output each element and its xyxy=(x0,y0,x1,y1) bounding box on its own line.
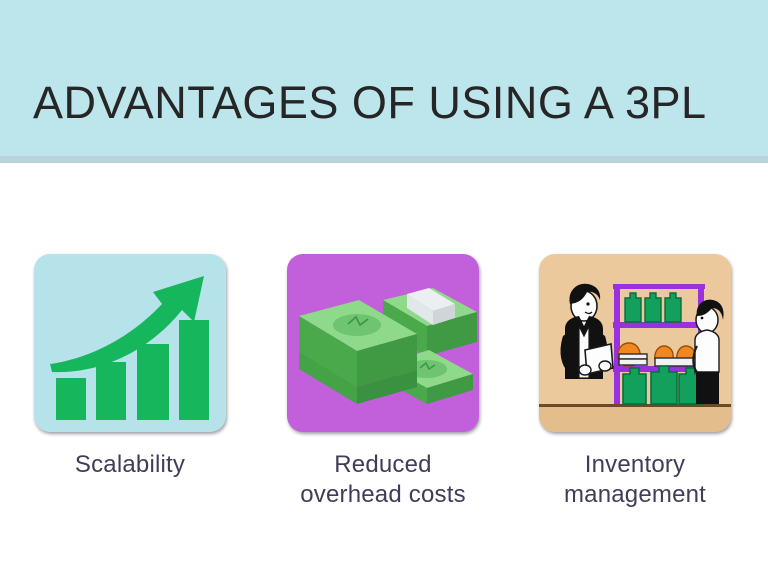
chart-bar-2 xyxy=(96,362,126,420)
chart-bar-3 xyxy=(137,344,169,420)
advantage-caption-scalability: Scalability xyxy=(17,450,243,480)
inventory-tile xyxy=(539,254,731,432)
growth-chart-icon xyxy=(34,254,226,432)
advantage-card-scalability[interactable]: Scalability xyxy=(17,248,243,480)
worker-left-figure xyxy=(564,284,613,379)
floor xyxy=(539,407,731,432)
floor-bottles xyxy=(623,366,702,404)
advantage-card-reduced-overhead-costs[interactable]: Reduced overhead costs xyxy=(270,248,496,510)
page-title: ADVANTAGES OF USING A 3PL xyxy=(33,75,743,131)
advantage-caption-inventory-management: Inventory management xyxy=(522,450,748,510)
shelf-board-top xyxy=(613,322,705,328)
slide-canvas: ADVANTAGES OF USING A 3PL Scalability xyxy=(0,0,768,576)
header-band-shadow xyxy=(0,156,768,163)
advantage-caption-reduced-overhead-costs: Reduced overhead costs xyxy=(270,450,496,510)
scalability-tile xyxy=(34,254,226,432)
shelf-bottles-top xyxy=(625,293,681,322)
inventory-shelf-icon xyxy=(539,254,731,432)
shelf-board-header xyxy=(613,284,705,289)
worker-right-figure xyxy=(693,300,723,404)
cash-stack-icon xyxy=(287,254,479,432)
chart-bar-1 xyxy=(56,378,86,420)
reduced-costs-tile xyxy=(287,254,479,432)
advantages-card-row: Scalability xyxy=(0,248,768,528)
chart-bar-4 xyxy=(179,320,209,420)
advantage-card-inventory-management[interactable]: Inventory management xyxy=(522,248,748,510)
